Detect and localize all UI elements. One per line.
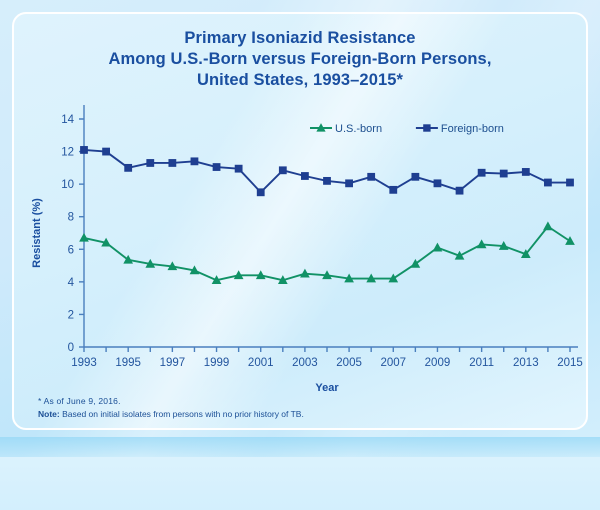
- footnote-note-label: Note:: [38, 409, 60, 419]
- data-point-marker-square: [424, 125, 430, 131]
- x-tick-label: 2011: [469, 357, 494, 369]
- chart-legend[interactable]: U.S.-bornForeign-born: [310, 123, 504, 135]
- chart-series: [80, 147, 574, 284]
- data-point-marker-square: [302, 173, 309, 180]
- page-title: Primary Isoniazid Resistance Among U.S.-…: [14, 28, 586, 91]
- y-tick-label: 10: [61, 179, 74, 191]
- data-point-marker-square: [103, 148, 110, 155]
- lower-background-band: [0, 457, 600, 510]
- title-line-3: United States, 1993–2015*: [14, 70, 586, 91]
- data-point-marker-square: [545, 179, 552, 186]
- x-tick-label: 2005: [336, 357, 362, 369]
- line-chart: 0246810121419931995199719992001200320052…: [14, 100, 588, 400]
- data-point-marker-square: [279, 167, 286, 174]
- y-axis-title: Resistant (%): [31, 198, 43, 268]
- data-point-marker-square: [522, 169, 529, 176]
- y-tick-label: 4: [68, 277, 75, 289]
- data-point-marker-square: [235, 165, 242, 172]
- y-tick-label: 2: [68, 309, 74, 321]
- lower-accent-band: [0, 437, 600, 457]
- data-point-marker-square: [81, 147, 88, 154]
- y-axis-title-text: Resistant (%): [31, 198, 43, 268]
- x-tick-label: 2003: [292, 357, 318, 369]
- x-tick-label: 2009: [425, 357, 451, 369]
- data-point-marker-square: [169, 160, 176, 167]
- data-point-marker-square: [125, 164, 132, 171]
- chart-area: 0246810121419931995199719992001200320052…: [14, 100, 588, 400]
- data-point-marker-square: [346, 180, 353, 187]
- footnote-note: Note: Based on initial isolates from per…: [38, 408, 304, 421]
- y-tick-label: 6: [68, 244, 74, 256]
- footnotes: * As of June 9, 2016. Note: Based on ini…: [38, 395, 304, 421]
- data-point-marker-square: [456, 187, 463, 194]
- data-point-marker-square: [147, 160, 154, 167]
- title-line-2: Among U.S.-Born versus Foreign-Born Pers…: [14, 49, 586, 70]
- x-tick-label: 2001: [248, 357, 274, 369]
- title-line-1: Primary Isoniazid Resistance: [14, 28, 586, 49]
- data-point-marker-square: [390, 186, 397, 193]
- data-point-marker-square: [478, 169, 485, 176]
- x-tick-label: 2015: [557, 357, 583, 369]
- y-tick-label: 14: [61, 114, 74, 126]
- x-tick-label: 2007: [380, 357, 406, 369]
- y-tick-label: 0: [68, 342, 74, 354]
- footnote-asterisk: * As of June 9, 2016.: [38, 395, 304, 408]
- x-axis-title: Year: [315, 382, 339, 394]
- data-point-marker-triangle: [433, 244, 441, 251]
- y-tick-label: 12: [61, 147, 74, 159]
- data-point-marker-square: [257, 189, 264, 196]
- y-tick-label: 8: [68, 212, 74, 224]
- legend-item-foreign-born[interactable]: Foreign-born: [416, 123, 504, 135]
- data-point-marker-square: [412, 173, 419, 180]
- series-u-s-born: [80, 222, 574, 283]
- chart-axes: 0246810121419931995199719992001200320052…: [61, 105, 583, 369]
- legend-label: Foreign-born: [441, 123, 504, 135]
- data-point-marker-square: [213, 164, 220, 171]
- x-tick-label: 1995: [115, 357, 141, 369]
- data-point-marker-square: [567, 179, 574, 186]
- legend-label: U.S.-born: [335, 123, 382, 135]
- data-point-marker-square: [324, 177, 331, 184]
- series-line: [84, 150, 570, 192]
- x-tick-label: 1997: [160, 357, 186, 369]
- data-point-marker-square: [191, 158, 198, 165]
- data-point-marker-triangle: [544, 222, 552, 229]
- x-axis-title-text: Year: [315, 382, 339, 394]
- data-point-marker-square: [500, 170, 507, 177]
- x-tick-label: 1993: [71, 357, 97, 369]
- series-foreign-born: [81, 147, 574, 196]
- legend-item-u-s-born[interactable]: U.S.-born: [310, 123, 382, 135]
- footnote-note-text: Based on initial isolates from persons w…: [60, 409, 304, 419]
- data-point-marker-square: [434, 180, 441, 187]
- slide-card: Primary Isoniazid Resistance Among U.S.-…: [12, 12, 588, 430]
- x-tick-label: 2013: [513, 357, 539, 369]
- x-tick-label: 1999: [204, 357, 230, 369]
- data-point-marker-square: [368, 173, 375, 180]
- data-point-marker-triangle: [80, 234, 88, 241]
